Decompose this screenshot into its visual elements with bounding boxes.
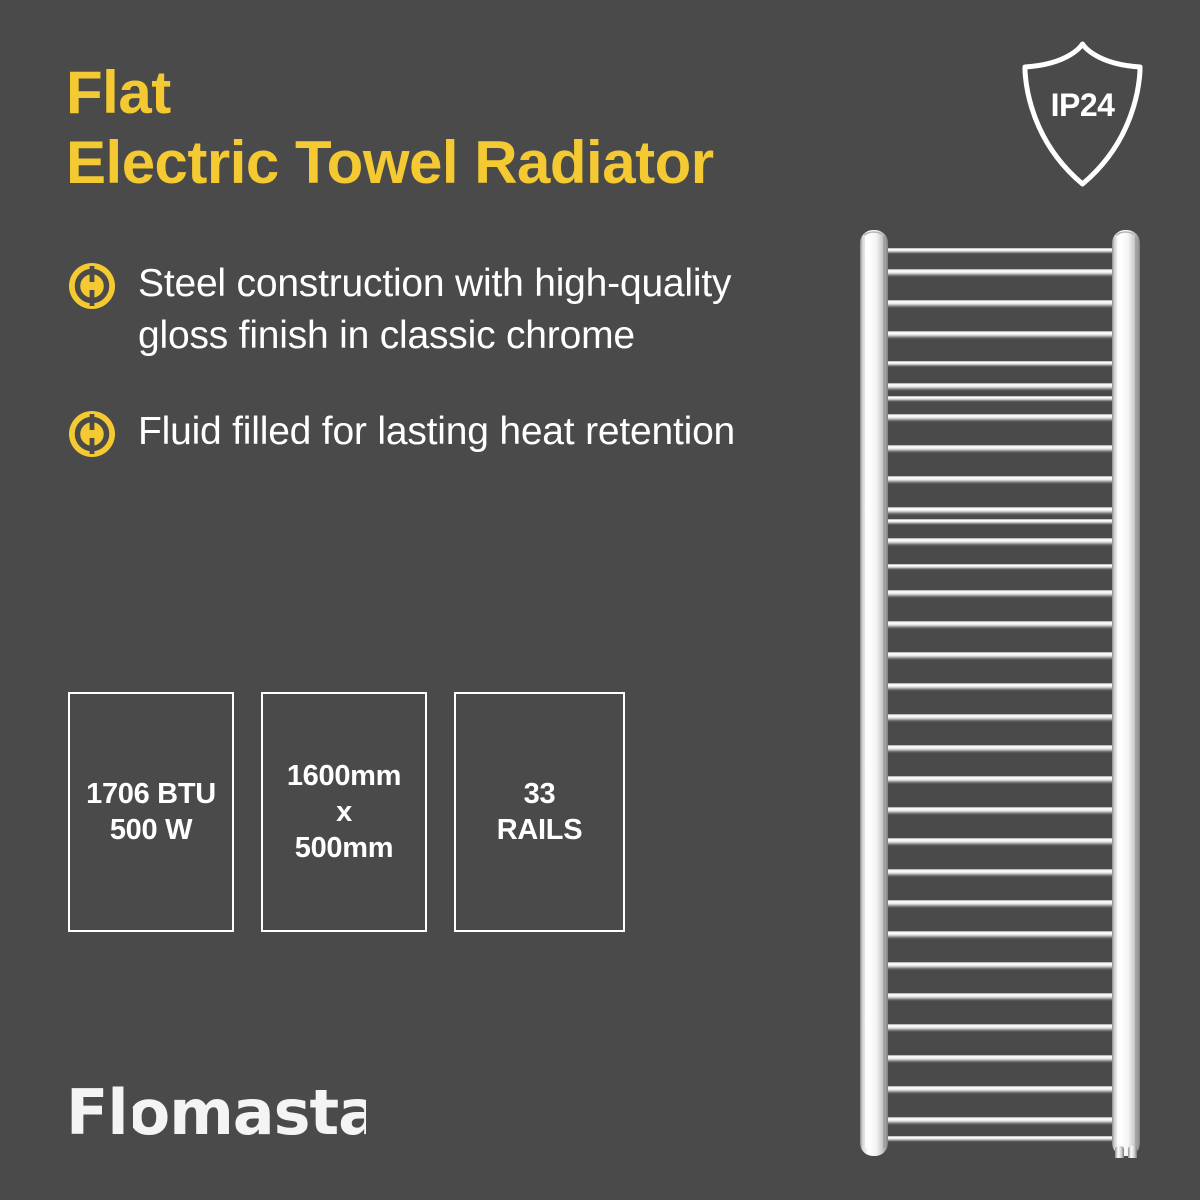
chrome-towel-radiator xyxy=(845,228,1155,1158)
spec-box-rail-count: 33 RAILS xyxy=(454,692,625,932)
page-title: Flat Electric Towel Radiator xyxy=(66,58,826,198)
spec-value: 1706 BTU 500 W xyxy=(86,776,216,848)
radiator-post-left xyxy=(860,230,888,1156)
spec-box-dimensions: 1600mm x 500mm xyxy=(261,692,427,932)
product-infographic: Flat Electric Towel Radiator IP24 Steel … xyxy=(0,0,1200,1200)
feature-item: Steel construction with high-quality glo… xyxy=(68,258,798,362)
flomasta-wordmark-icon: Flomasta xyxy=(66,1080,366,1148)
valve-bullet-icon xyxy=(68,410,116,458)
spec-box-heat-output: 1706 BTU 500 W xyxy=(68,692,234,932)
feature-list: Steel construction with high-quality glo… xyxy=(68,258,798,502)
feature-text: Fluid filled for lasting heat retention xyxy=(138,406,735,458)
spec-value: 33 RAILS xyxy=(497,776,583,848)
valve-bullet-icon xyxy=(68,262,116,310)
spec-box-group: 1706 BTU 500 W 1600mm x 500mm 33 RAILS xyxy=(68,692,625,932)
title-line-1: Flat xyxy=(66,58,826,128)
feature-item: Fluid filled for lasting heat retention xyxy=(68,406,798,458)
title-line-2: Electric Towel Radiator xyxy=(66,128,826,198)
radiator-rails xyxy=(867,248,1133,1142)
radiator-illustration xyxy=(845,228,1155,1158)
ip-rating-badge: IP24 xyxy=(1019,38,1146,190)
ip-rating-label: IP24 xyxy=(1019,38,1146,190)
svg-text:Flomasta: Flomasta xyxy=(66,1080,366,1148)
feature-text: Steel construction with high-quality glo… xyxy=(138,258,798,362)
brand-logo: Flomasta xyxy=(66,1080,366,1148)
radiator-post-right xyxy=(1112,230,1140,1156)
spec-value: 1600mm x 500mm xyxy=(287,758,401,866)
